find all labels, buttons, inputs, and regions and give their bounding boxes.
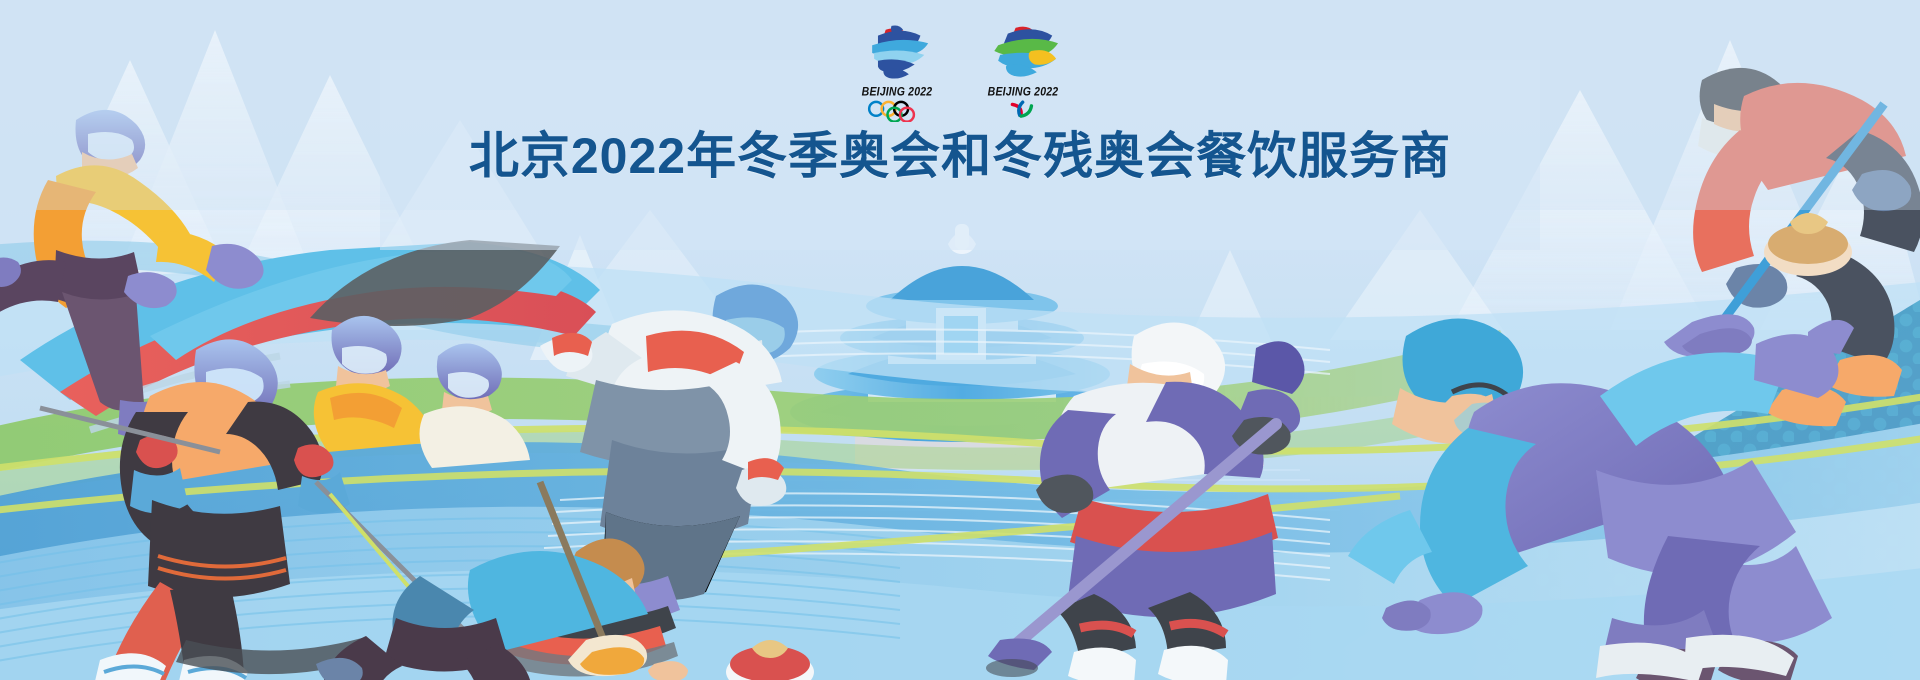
winter-dream-emblem-icon <box>849 24 946 80</box>
emblem-row: BEIJING 2022 BEIJING 2022 <box>0 24 1920 127</box>
beijing-2022-paralympic-emblem: BEIJING 2022 <box>975 24 1071 127</box>
olympic-wordmark: BEIJING 2022 <box>849 85 945 98</box>
paralympic-agitos-icon <box>986 100 1059 122</box>
leap-emblem-icon <box>975 24 1072 80</box>
beijing-2022-catering-banner: BEIJING 2022 BEIJING 2022 <box>0 0 1920 680</box>
paralympic-wordmark: BEIJING 2022 <box>975 85 1071 98</box>
beijing-2022-olympic-emblem: BEIJING 2022 <box>849 24 945 127</box>
olympic-rings-icon <box>860 100 933 122</box>
